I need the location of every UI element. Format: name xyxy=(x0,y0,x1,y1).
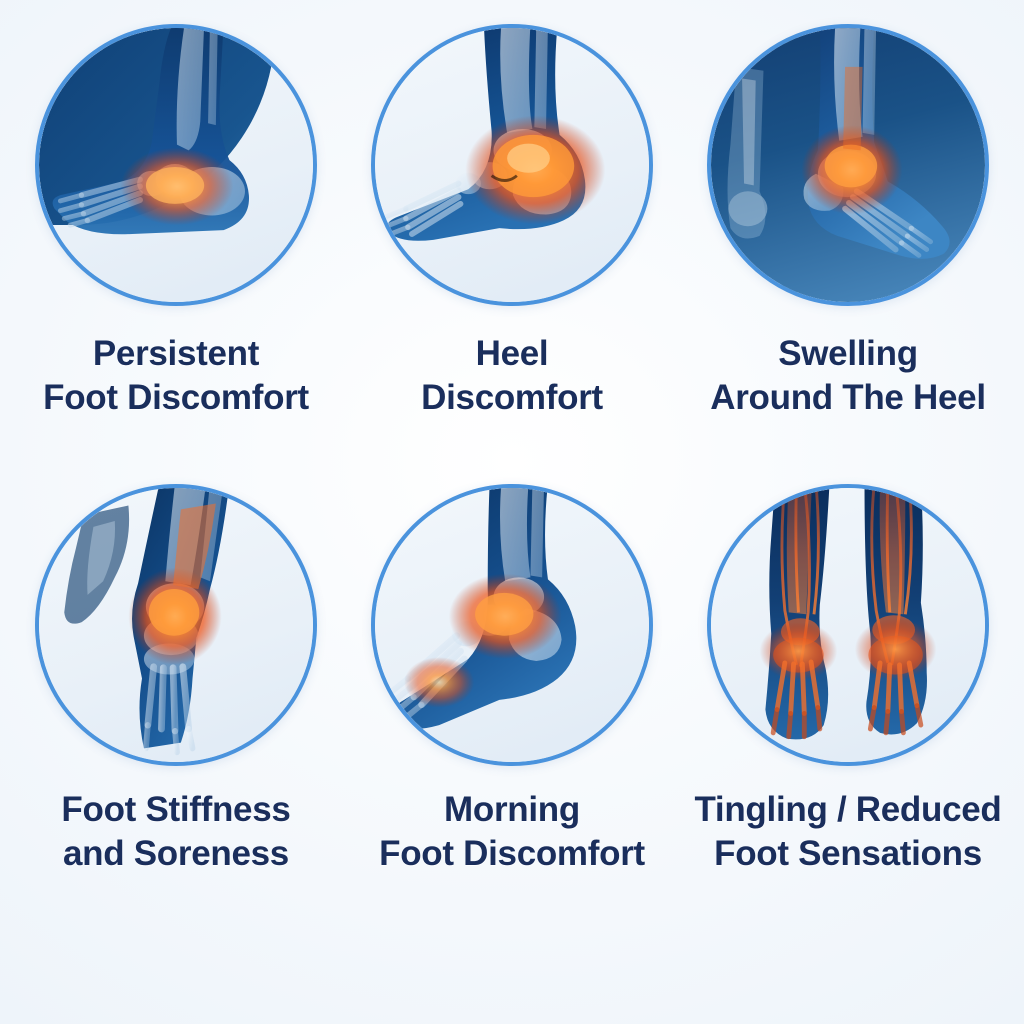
scan-circle-heel-discomfort[interactable] xyxy=(371,24,653,306)
caption-line-1: Persistent xyxy=(43,332,309,376)
scan-circle-persistent-foot-discomfort[interactable] xyxy=(35,24,317,306)
caption-line-2: Foot Discomfort xyxy=(43,376,309,420)
scan-circle-swelling-around-the-heel[interactable] xyxy=(707,24,989,306)
symptom-caption-tingling-reduced-foot-sensations: Tingling / Reduced Foot Sensations xyxy=(690,788,1005,876)
symptom-card-persistent-foot-discomfort[interactable]: Persistent Foot Discomfort xyxy=(8,24,344,484)
foot-xray-illustration xyxy=(711,488,985,762)
caption-line-1: Tingling / Reduced xyxy=(694,788,1001,832)
symptom-caption-foot-stiffness-and-soreness: Foot Stiffness and Soreness xyxy=(57,788,294,876)
symptom-caption-morning-foot-discomfort: Morning Foot Discomfort xyxy=(375,788,649,876)
symptom-card-morning-foot-discomfort[interactable]: Morning Foot Discomfort xyxy=(344,484,680,944)
symptom-caption-swelling-around-the-heel: Swelling Around The Heel xyxy=(706,332,990,420)
caption-line-1: Morning xyxy=(379,788,645,832)
caption-line-2: Foot Sensations xyxy=(694,832,1001,876)
symptom-caption-persistent-foot-discomfort: Persistent Foot Discomfort xyxy=(39,332,313,420)
caption-line-2: Foot Discomfort xyxy=(379,832,645,876)
scan-image-lateral-foot-xray xyxy=(375,28,649,302)
scan-image-lateral-foot-xray xyxy=(39,28,313,302)
scan-image-lateral-foot-xray xyxy=(375,488,649,762)
foot-xray-illustration xyxy=(39,488,313,762)
right-foot xyxy=(855,488,937,734)
symptoms-grid: Persistent Foot Discomfort xyxy=(0,0,1024,1024)
scan-circle-tingling-reduced-foot-sensations[interactable] xyxy=(707,484,989,766)
scan-image-bilateral-feet-nerve-xray xyxy=(711,488,985,762)
caption-line-2: and Soreness xyxy=(61,832,290,876)
scan-circle-foot-stiffness-and-soreness[interactable] xyxy=(35,484,317,766)
symptom-card-foot-stiffness-and-soreness[interactable]: Foot Stiffness and Soreness xyxy=(8,484,344,944)
symptom-caption-heel-discomfort: Heel Discomfort xyxy=(417,332,607,420)
scan-image-angled-ankle-xray xyxy=(39,488,313,762)
caption-line-1: Swelling xyxy=(710,332,986,376)
symptom-card-heel-discomfort[interactable]: Heel Discomfort xyxy=(344,24,680,484)
caption-line-2: Around The Heel xyxy=(710,376,986,420)
foot-xray-illustration xyxy=(711,28,985,302)
scan-circle-morning-foot-discomfort[interactable] xyxy=(371,484,653,766)
foot-xray-illustration xyxy=(375,28,649,302)
foot-xray-illustration xyxy=(375,488,649,762)
caption-line-1: Heel xyxy=(421,332,603,376)
symptom-card-tingling-reduced-foot-sensations[interactable]: Tingling / Reduced Foot Sensations xyxy=(680,484,1016,944)
caption-line-1: Foot Stiffness xyxy=(61,788,290,832)
caption-line-2: Discomfort xyxy=(421,376,603,420)
symptom-card-swelling-around-the-heel[interactable]: Swelling Around The Heel xyxy=(680,24,1016,484)
left-foot xyxy=(760,488,838,739)
foot-xray-illustration xyxy=(39,28,313,302)
scan-image-ankle-xray-with-second-leg xyxy=(711,28,985,302)
